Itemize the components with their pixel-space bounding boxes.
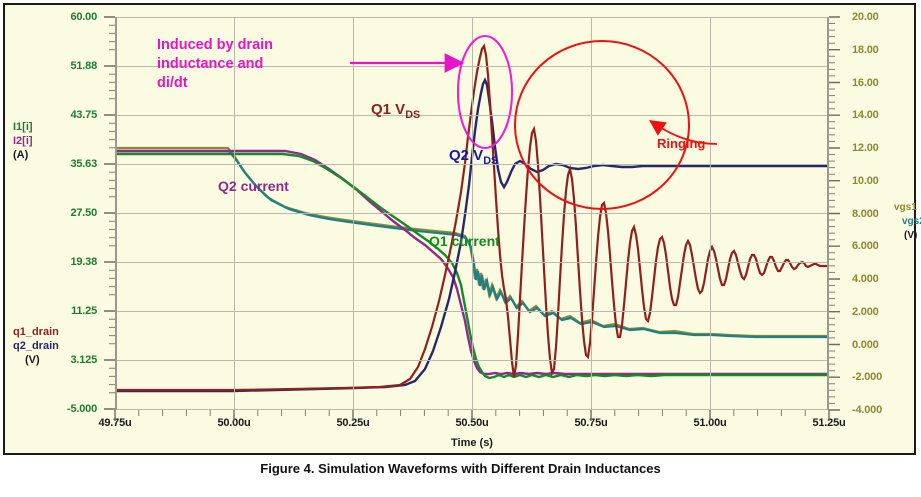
- gridline-v: [591, 17, 592, 410]
- annotation-q1-current: Q1 current: [429, 233, 500, 249]
- legend-i1: I1[i]: [13, 120, 33, 134]
- annotation-q1-vds-text: Q1 V: [371, 101, 405, 118]
- x-tick-4: 50.75u: [574, 417, 607, 429]
- gridline-v: [710, 17, 711, 410]
- y-right-tick-9: 2.000: [852, 306, 879, 318]
- y-left-tick-0: 60.00: [70, 11, 97, 23]
- y-left-tick-3: 35.63: [70, 158, 97, 170]
- x-tick-5: 51.00u: [693, 417, 726, 429]
- legend-volt-unit: (V): [13, 353, 59, 367]
- x-tick-2: 50.25u: [336, 417, 369, 429]
- annotation-q2-current: Q2 current: [218, 178, 289, 194]
- annotation-ringing: Ringing: [657, 136, 705, 151]
- figure-caption: Figure 4. Simulation Waveforms with Diff…: [0, 461, 921, 476]
- y-right-tick-6: 8.000: [852, 208, 879, 220]
- y-right-tick-7: 6.000: [852, 240, 879, 252]
- y-left-tick-8: -5.000: [67, 403, 97, 415]
- y-right-tick-12: -4.000: [852, 404, 882, 416]
- y-right-tick-10: 0.000: [852, 339, 879, 351]
- annotation-q2-vds-sub: DS: [483, 155, 498, 167]
- annotation-q1-vds-sub: DS: [405, 109, 420, 121]
- y-left-current-caption: I1[i] I2[i] (A): [13, 120, 33, 162]
- legend-i2: I2[i]: [13, 134, 33, 148]
- annotation-q2-vds-text: Q2 V: [449, 147, 483, 164]
- legend-vgs-unit: (V): [894, 229, 921, 243]
- y-left-major-ticks: [104, 17, 115, 409]
- y-left-tick-2: 43.75: [70, 109, 97, 121]
- legend-vgs2: vgs2: [894, 215, 921, 229]
- x-tick-6: 51.25u: [812, 417, 845, 429]
- x-tick-1: 50.00u: [217, 417, 250, 429]
- figure-container: 60.00 51.88 43.75 35.63 27.50 19.38 11.2…: [0, 0, 921, 497]
- y-left-voltage-caption: q1_drain q2_drain (V): [13, 325, 59, 367]
- y-left-tick-4: 27.50: [70, 207, 97, 219]
- y-right-tick-4: 12.00: [852, 142, 879, 154]
- y-right-tick-0: 20.00: [852, 11, 879, 23]
- y-right-tick-2: 16.00: [852, 77, 879, 89]
- legend-q1-drain: q1_drain: [13, 325, 59, 339]
- gridline-v: [353, 17, 354, 410]
- y-right-major-ticks: [829, 17, 840, 410]
- annotation-q2-vds: Q2 VDS: [449, 147, 498, 167]
- legend-amp-unit: (A): [13, 148, 33, 162]
- y-left-tick-7: 3.125: [70, 354, 97, 366]
- x-axis-title: Time (s): [115, 437, 829, 449]
- legend-q2-drain: q2_drain: [13, 339, 59, 353]
- y-right-tick-11: -2.000: [852, 371, 882, 383]
- y-left-tick-5: 19.38: [70, 256, 97, 268]
- y-right-tick-1: 18.00: [852, 44, 879, 56]
- y-left-tick-1: 51.88: [70, 60, 97, 72]
- legend-vgs1: vgs1: [894, 201, 921, 215]
- y-right-minor-ticks: [829, 24, 835, 404]
- annotation-induced: Induced by drain inductance and di/dt: [157, 36, 273, 93]
- plot-panel: 60.00 51.88 43.75 35.63 27.50 19.38 11.2…: [3, 3, 916, 455]
- x-minor-ticks: [139, 410, 805, 416]
- y-right-tick-3: 14.00: [852, 109, 879, 121]
- y-right-tick-5: 10.00: [852, 175, 879, 187]
- annotation-q1-vds: Q1 VDS: [371, 101, 420, 121]
- x-tick-3: 50.50u: [455, 417, 488, 429]
- y-right-tick-8: 4.000: [852, 273, 879, 285]
- y-right-caption: vgs1 vgs2 (V): [894, 201, 921, 243]
- x-tick-0: 49.75u: [98, 417, 131, 429]
- gridline-v: [472, 17, 473, 410]
- y-left-tick-6: 11.25: [71, 305, 97, 317]
